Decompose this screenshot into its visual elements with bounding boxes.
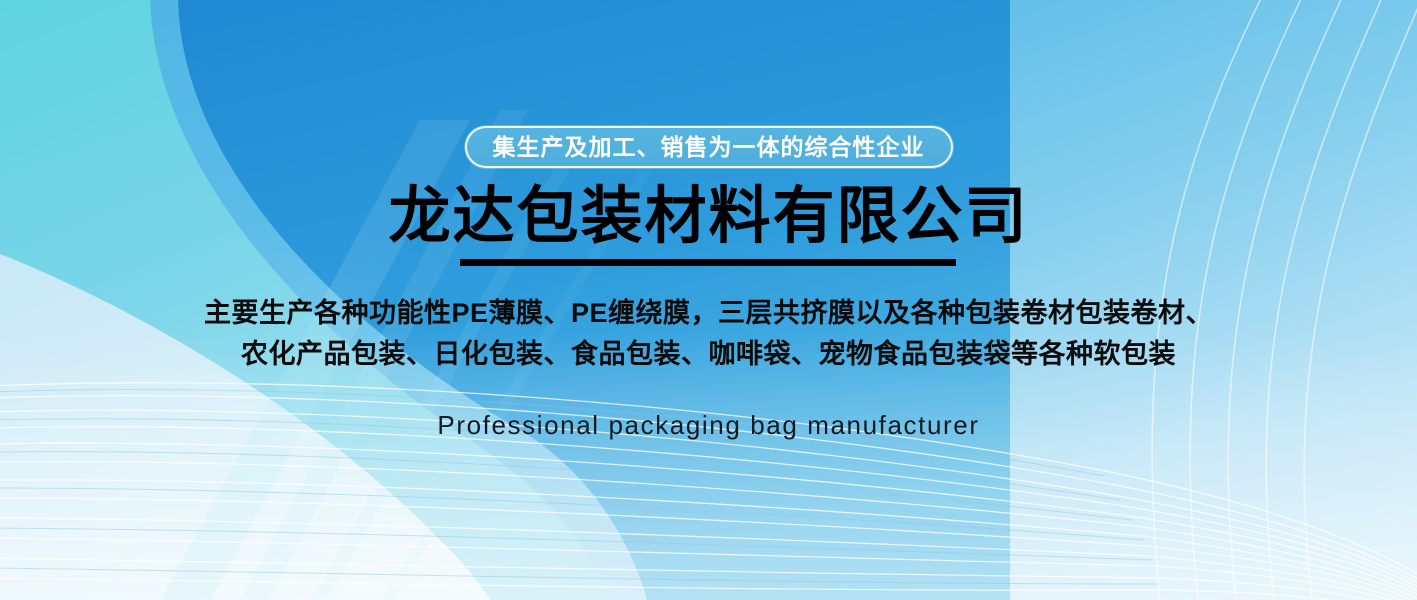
title-underline-rule — [460, 259, 956, 266]
banner-content: 集生产及加工、销售为一体的综合性企业 龙达包装材料有限公司 主要生产各种功能性P… — [0, 0, 1417, 600]
description-line-2: 农化产品包装、日化包装、食品包装、咖啡袋、宠物食品包装袋等各种软包装 — [241, 338, 1176, 370]
company-title: 龙达包装材料有限公司 — [388, 184, 1028, 250]
title-block: 龙达包装材料有限公司 — [388, 184, 1028, 266]
english-subtitle: Professional packaging bag manufacturer — [437, 410, 979, 441]
tagline-badge: 集生产及加工、销售为一体的综合性企业 — [465, 126, 953, 168]
description-line-1: 主要生产各种功能性PE薄膜、PE缠绕膜，三层共挤膜以及各种包装卷材包装卷材、 — [204, 297, 1213, 329]
promo-banner: 集生产及加工、销售为一体的综合性企业 龙达包装材料有限公司 主要生产各种功能性P… — [0, 0, 1417, 600]
description-block: 主要生产各种功能性PE薄膜、PE缠绕膜，三层共挤膜以及各种包装卷材包装卷材、 农… — [204, 297, 1213, 371]
